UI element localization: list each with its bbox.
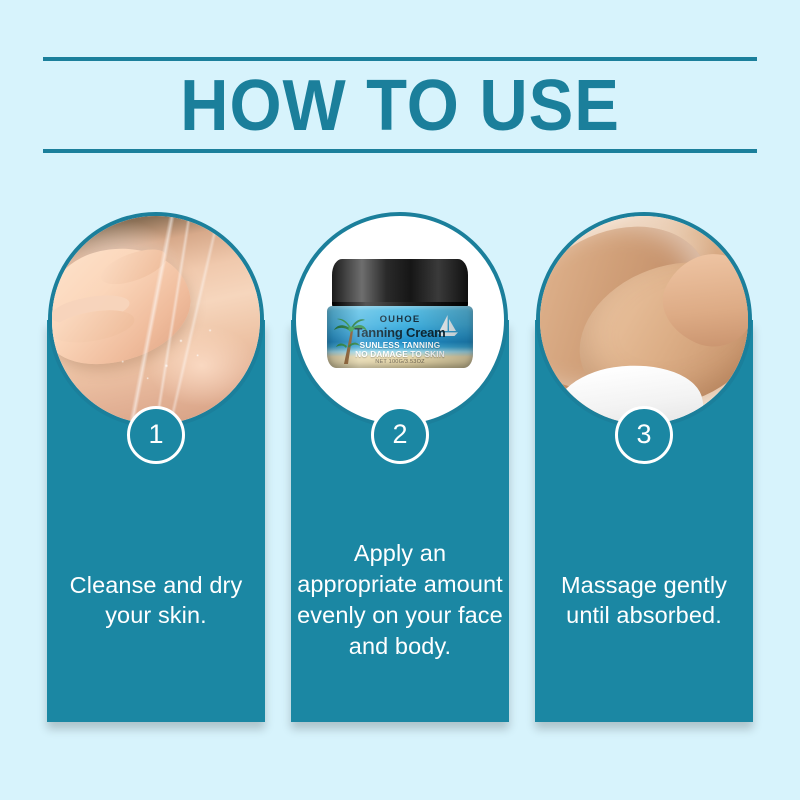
tanning-cream-jar-photo: OUHOE Tanning Cream SUNLESS TANNING NO D…: [327, 259, 473, 381]
steps-container: Cleanse and dry your skin. 1 Apply an ap…: [47, 212, 753, 732]
step-badge-1-number: 1: [148, 421, 163, 448]
wet-skin-shower-photo: [52, 216, 260, 424]
page-title: HOW TO USE: [68, 61, 732, 149]
jar-lid: [332, 259, 468, 309]
step-badge-2: 2: [371, 406, 429, 464]
step-card-3: Massage gently until absorbed. 3: [535, 212, 753, 732]
step-badge-2-number: 2: [392, 421, 407, 448]
step-badge-3-number: 3: [636, 421, 651, 448]
jar-label: OUHOE Tanning Cream SUNLESS TANNING NO D…: [327, 306, 473, 368]
step-card-1-image: [48, 212, 264, 428]
step-card-2-text: Apply an appropriate amount evenly on yo…: [291, 538, 509, 662]
step-badge-3: 3: [615, 406, 673, 464]
step-card-2: Apply an appropriate amount evenly on yo…: [291, 212, 509, 732]
title-rule-bottom: [43, 149, 757, 153]
jar-brand-text: OUHOE: [327, 314, 473, 325]
jar-claim-line-2: NO DAMAGE TO SKIN: [327, 350, 473, 359]
page-header: HOW TO USE: [43, 57, 757, 153]
step-card-2-image: OUHOE Tanning Cream SUNLESS TANNING NO D…: [292, 212, 508, 428]
step-badge-1: 1: [127, 406, 185, 464]
jar-product-name: Tanning Cream: [327, 325, 473, 340]
water-droplets: [52, 216, 260, 424]
jar-claim-line-1: SUNLESS TANNING: [327, 341, 473, 350]
step-card-3-image: [536, 212, 752, 428]
step-card-3-text: Massage gently until absorbed.: [539, 570, 749, 630]
jar-net-weight: NET 100G/3.53OZ: [327, 359, 473, 365]
step-card-1: Cleanse and dry your skin. 1: [47, 212, 265, 732]
step-card-1-text: Cleanse and dry your skin.: [51, 570, 261, 630]
tanned-legs-photo: [540, 216, 748, 424]
